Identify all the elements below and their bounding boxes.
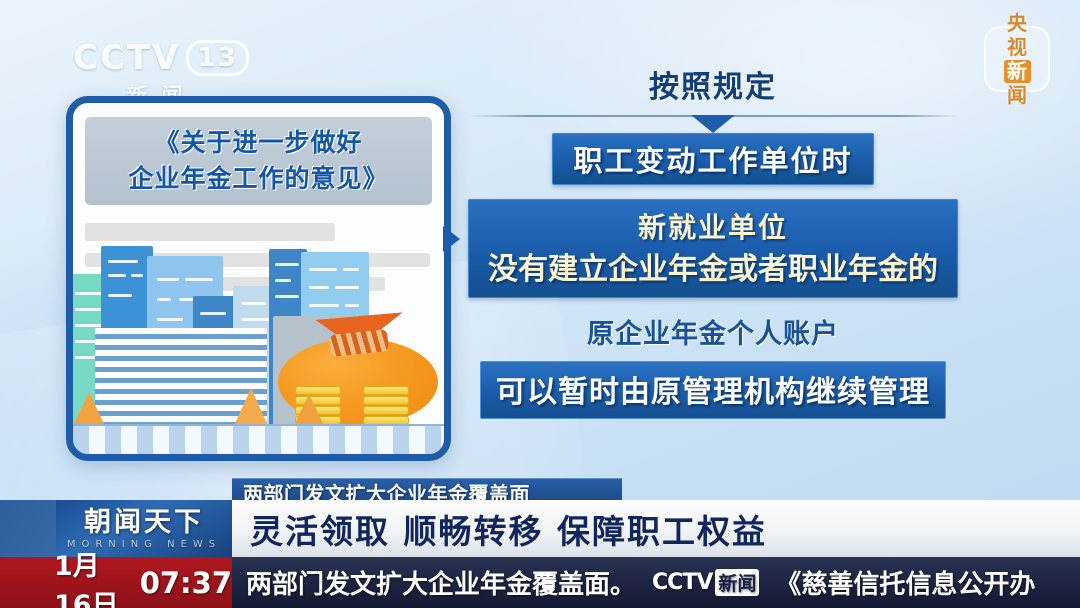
badge-char-4: 闻: [1004, 84, 1031, 107]
cctv-inline-news: 新闻: [715, 569, 759, 596]
badge-char-1: 央: [1004, 12, 1031, 35]
datetime-badge: 1月16日 07:37: [0, 557, 232, 608]
document-title-line-1: 《关于进一步做好: [154, 125, 362, 161]
cctv-channel-number: 13: [186, 40, 248, 76]
middle-statement: 原企业年金个人账户: [468, 312, 958, 351]
cctv-watermark-row: CCTV 13: [73, 38, 238, 78]
headline-text: 灵活领取 顺畅转移 保障职工权益: [232, 505, 767, 553]
cctv-inline-text: CCTV: [652, 570, 712, 595]
program-logo-cn: 朝闻天下: [84, 508, 204, 538]
info-column: 按照规定 职工变动工作单位时 新就业单位 没有建立企业年金或者职业年金的 原企业…: [468, 62, 958, 419]
statement-box-1: 职工变动工作单位时: [552, 133, 874, 185]
document-title-line-2: 企业年金工作的意见》: [128, 161, 388, 197]
section-heading: 按照规定: [468, 62, 958, 106]
ticker-headline-1: 两部门发文扩大企业年金覆盖面。: [246, 564, 636, 601]
badge-char-3: 新: [1004, 60, 1031, 83]
heading-divider-with-arrow: [468, 115, 958, 117]
broadcast-screen: CCTV 13 新闻 央 视 新 闻 《关于进一步做好 企业年金工作的意见》: [0, 0, 1080, 608]
coin-stack: [363, 386, 409, 426]
statement-box-2: 新就业单位 没有建立企业年金或者职业年金的: [468, 199, 958, 298]
lower-third: 朝闻天下 MORNING NEWS 灵活领取 顺畅转移 保障职工权益 1月16日…: [0, 500, 1080, 608]
document-card: 《关于进一步做好 企业年金工作的意见》: [66, 96, 451, 461]
ground-strip: [73, 424, 444, 454]
city-illustration: [73, 239, 444, 454]
document-title-band: 《关于进一步做好 企业年金工作的意见》: [85, 117, 432, 205]
headline-band: 朝闻天下 MORNING NEWS 灵活领取 顺畅转移 保障职工权益: [56, 500, 1080, 557]
right-arrow-icon: [443, 226, 460, 252]
news-ticker: 两部门发文扩大企业年金覆盖面。 CCTV 新闻 《慈善信托信息公开办: [232, 564, 1035, 601]
cctv-news-inline-logo: CCTV 新闻: [652, 569, 759, 596]
broadcast-date: 1月16日: [54, 544, 132, 608]
badge-char-2: 视: [1004, 36, 1031, 59]
statement-box-2-line-1: 新就业单位: [479, 206, 947, 246]
broadcast-time: 07:37: [140, 566, 232, 600]
statement-box-1-text: 职工变动工作单位时: [573, 144, 852, 178]
ticker-headline-2: 《慈善信托信息公开办: [775, 564, 1035, 601]
statement-box-3-text: 可以暂时由原管理机构继续管理: [496, 375, 930, 410]
ticker-row: 1月16日 07:37 两部门发文扩大企业年金覆盖面。 CCTV 新闻 《慈善信…: [0, 557, 1080, 608]
statement-box-2-line-2: 没有建立企业年金或者职业年金的: [479, 244, 947, 288]
statement-box-3: 可以暂时由原管理机构继续管理: [480, 361, 946, 419]
yangshi-news-badge: 央 视 新 闻: [984, 26, 1050, 92]
cctv-watermark-text: CCTV: [73, 38, 180, 78]
